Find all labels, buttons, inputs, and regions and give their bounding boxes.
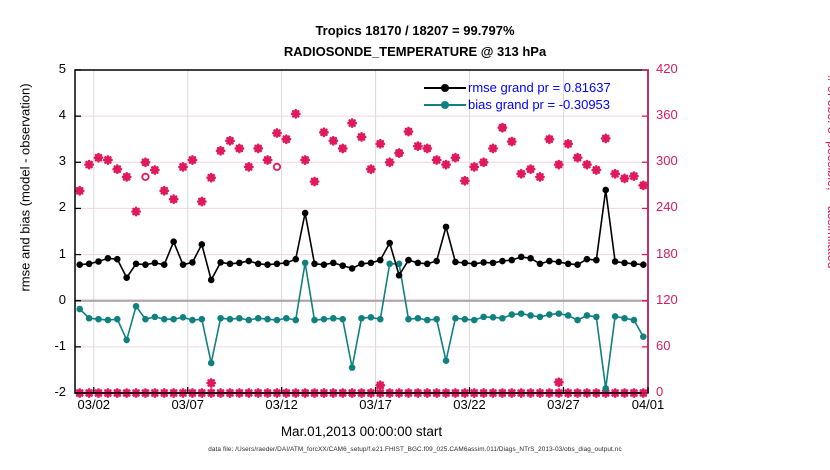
legend-marker-icon — [424, 81, 466, 95]
x-tick-04/01: 04/01 — [618, 397, 678, 412]
y-tick-right-300: 300 — [656, 153, 700, 168]
y-tick-left-4: 4 — [26, 107, 66, 122]
x-axis-label: Mar.01,2013 00:00:00 start — [75, 424, 648, 439]
x-tick-03/27: 03/27 — [533, 397, 593, 412]
legend-label: bias grand pr = -0.30953 — [468, 97, 610, 112]
x-tick-03/02: 03/02 — [64, 397, 124, 412]
x-tick-03/12: 03/12 — [252, 397, 312, 412]
figure: Tropics 18170 / 18207 = 99.797% RADIOSON… — [0, 0, 830, 470]
x-tick-03/22: 03/22 — [440, 397, 500, 412]
y-tick-right-120: 120 — [656, 292, 700, 307]
legend-label: rmse grand pr = 0.81637 — [468, 80, 611, 95]
x-tick-03/07: 03/07 — [158, 397, 218, 412]
y-tick-left-1: 1 — [26, 246, 66, 261]
y-tick-left-0: 0 — [26, 292, 66, 307]
y-tick-left-2: 2 — [26, 199, 66, 214]
data-file-footer: data file: /Users/raeder/DAI/ATM_forcXX/… — [0, 446, 830, 453]
y-tick-right-60: 60 — [656, 338, 700, 353]
plot-canvas — [0, 0, 830, 470]
y-tick-right-360: 360 — [656, 107, 700, 122]
y-tick-left--2: -2 — [26, 384, 66, 399]
legend-item-bias[interactable]: bias grand pr = -0.30953 — [424, 96, 611, 113]
chart-legend: rmse grand pr = 0.81637bias grand pr = -… — [424, 79, 611, 113]
y-tick-right-240: 240 — [656, 199, 700, 214]
y-tick-left-3: 3 — [26, 153, 66, 168]
y-tick-left-5: 5 — [26, 61, 66, 76]
x-tick-03/17: 03/17 — [346, 397, 406, 412]
y-tick-right-420: 420 — [656, 61, 700, 76]
legend-marker-icon — [424, 98, 466, 112]
y-tick-left--1: -1 — [26, 338, 66, 353]
y-tick-right-180: 180 — [656, 246, 700, 261]
legend-item-rmse[interactable]: rmse grand pr = 0.81637 — [424, 79, 611, 96]
